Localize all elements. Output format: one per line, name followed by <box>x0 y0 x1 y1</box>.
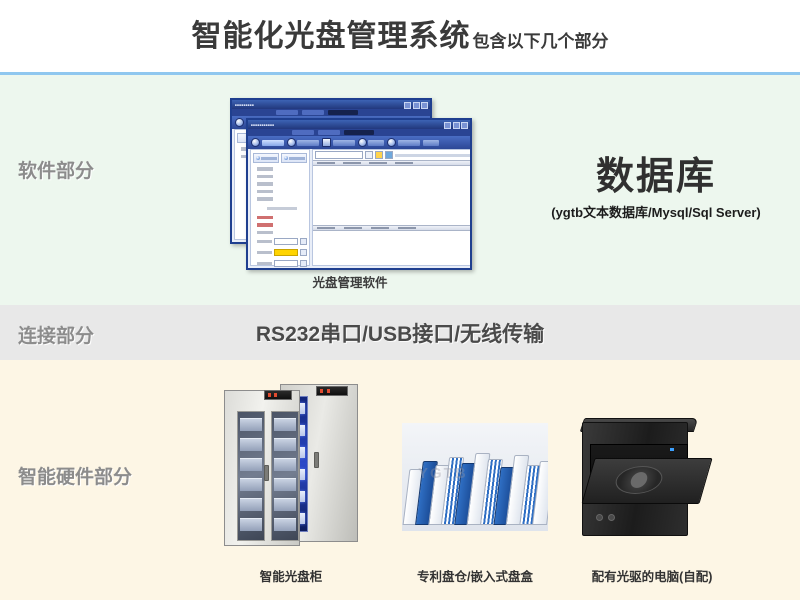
grid-header-cell <box>371 227 389 230</box>
window-tabrow-front <box>248 129 470 136</box>
grid-header-cell <box>343 162 361 165</box>
cabinet-glass-door-right <box>271 411 299 541</box>
window-titlebar-front: ■■■■■■■■■■■ <box>248 120 470 129</box>
hardware-caption-trays: 专利盘仓/嵌入式盘盒 <box>396 566 554 585</box>
cabinet-display-panel-right <box>316 386 348 396</box>
text-field <box>274 260 298 267</box>
picker-button <box>300 249 307 256</box>
search-icon <box>365 151 373 159</box>
minimize-icon <box>444 122 451 129</box>
window-controls-back <box>404 102 428 109</box>
power-led-icon <box>670 448 674 451</box>
cabinet-handle <box>264 465 269 481</box>
tab-chip-active <box>328 110 358 115</box>
disc-out-icon <box>287 138 296 147</box>
database-block: 数据库 (ygtb文本数据库/Mysql/Sql Server) <box>520 158 792 221</box>
form-label-required <box>257 223 273 227</box>
header: 智能化光盘管理系统 包含以下几个部分 <box>0 0 800 74</box>
toolbar-button <box>322 138 355 147</box>
pane-note <box>267 207 297 210</box>
section-label-connection: 连接部分 <box>18 321 94 348</box>
form-row-required <box>257 223 307 227</box>
picker-button <box>300 238 307 245</box>
grid-header-cell <box>344 227 362 230</box>
form-row <box>257 197 307 201</box>
toolbar-button <box>358 138 385 147</box>
form-label <box>257 197 273 201</box>
software-screenshot: ■■■■■■■■■ <box>230 98 470 266</box>
page-title: 智能化光盘管理系统 <box>192 22 471 52</box>
tab-chip <box>318 130 340 135</box>
window-body-front <box>250 149 468 266</box>
connection-text: RS232串口/USB接口/无线传输 <box>180 318 620 348</box>
page-subtitle: 包含以下几个部分 <box>473 33 609 50</box>
form-label <box>257 167 273 171</box>
pc-power-button <box>596 514 603 521</box>
form-row <box>257 167 307 171</box>
form-row <box>257 182 307 186</box>
disc-in-icon <box>235 118 244 127</box>
grid-search-bar <box>313 150 472 160</box>
form-label <box>257 190 273 194</box>
tab-dot-icon <box>284 156 288 160</box>
window-toolbar-front <box>248 136 470 149</box>
settings-icon <box>358 138 367 147</box>
data-grid-front <box>312 149 472 266</box>
toolbar-label <box>368 140 384 146</box>
grid-header-cell <box>369 162 387 165</box>
tab-dot-icon <box>256 156 260 160</box>
tab-label <box>289 157 305 160</box>
tab-chip <box>302 110 324 115</box>
tab-chip-active <box>344 130 374 135</box>
software-caption: 光盘管理软件 <box>230 272 470 291</box>
maximize-icon <box>453 122 460 129</box>
window-titlebar-back: ■■■■■■■■■ <box>232 100 430 109</box>
side-tab-disc-borrow <box>281 153 307 163</box>
form-row-input <box>257 260 307 267</box>
toolbar-label <box>333 140 355 146</box>
toolbar-button <box>251 138 284 147</box>
text-field-focused <box>274 249 298 256</box>
hardware-caption-pc: 配有光驱的电脑(自配) <box>572 566 732 585</box>
grid-header-cell <box>317 162 335 165</box>
hardware-image-pc-with-drive <box>572 414 716 538</box>
close-icon <box>421 102 428 109</box>
grid-header-cell <box>398 227 416 230</box>
section-label-hardware: 智能硬件部分 <box>18 462 132 489</box>
toolbar-button <box>423 140 439 146</box>
toolbar-label <box>423 140 439 146</box>
toolbar-label <box>398 140 420 146</box>
refresh-icon <box>387 138 396 147</box>
hardware-caption-cabinet: 智能光盘柜 <box>218 566 364 585</box>
form-row-input-active <box>257 249 307 256</box>
form-row-required <box>257 216 307 220</box>
form-label <box>257 231 273 235</box>
app-window-front: ■■■■■■■■■■■ <box>246 118 472 270</box>
close-icon <box>461 122 468 129</box>
toolbar-button <box>387 138 420 147</box>
side-panel-tabs <box>253 153 307 163</box>
grid-status-text <box>395 154 472 157</box>
disc-in-icon <box>251 138 260 147</box>
slide-root: 智能化光盘管理系统 包含以下几个部分 软件部分 连接部分 智能硬件部分 ■■■■… <box>0 0 800 600</box>
toolbar-label <box>297 140 319 146</box>
database-subtitle: (ygtb文本数据库/Mysql/Sql Server) <box>520 202 792 221</box>
window-title-back: ■■■■■■■■■ <box>235 103 254 107</box>
picker-button <box>300 260 307 267</box>
image-watermark: YGTB <box>418 465 468 482</box>
search-input <box>315 151 363 159</box>
cabinet-glass-door-left <box>237 411 265 541</box>
section-label-software: 软件部分 <box>18 156 94 183</box>
hardware-image-cabinet <box>218 382 364 554</box>
form-label <box>257 251 272 255</box>
side-tab-disc-info <box>253 153 279 163</box>
minimize-icon <box>404 102 411 109</box>
form-row <box>257 175 307 179</box>
cabinet-left <box>224 390 300 546</box>
form-row <box>257 190 307 194</box>
pc-reset-button <box>608 514 615 521</box>
form-label <box>257 240 272 244</box>
form-label-required <box>257 216 273 220</box>
form-label <box>257 175 273 179</box>
maximize-icon <box>413 102 420 109</box>
hardware-image-disc-trays: YGTB <box>402 423 548 531</box>
toolbar-button <box>287 138 320 147</box>
form-row <box>257 231 307 235</box>
toolbar-label <box>262 140 284 146</box>
text-field <box>274 238 298 245</box>
form-row-input <box>257 238 307 245</box>
database-title: 数据库 <box>520 158 792 198</box>
cabinet-handle <box>314 452 319 468</box>
form-label <box>257 182 273 186</box>
side-panel-front <box>250 149 310 266</box>
tab-label <box>261 157 277 160</box>
grid-rows-upper <box>313 166 472 225</box>
window-tabrow-back <box>232 109 430 116</box>
disc-query-icon <box>322 138 331 147</box>
grid-rows-lower <box>313 231 472 265</box>
grid-header-cell <box>317 227 335 230</box>
export-icon <box>385 151 393 159</box>
folder-icon <box>375 151 383 159</box>
form-label <box>257 262 272 266</box>
tab-chip <box>292 130 314 135</box>
window-title-front: ■■■■■■■■■■■ <box>251 123 274 127</box>
cabinet-display-panel-left <box>264 390 292 400</box>
window-controls-front <box>444 122 468 129</box>
tab-chip <box>276 110 298 115</box>
grid-header-cell <box>395 162 413 165</box>
